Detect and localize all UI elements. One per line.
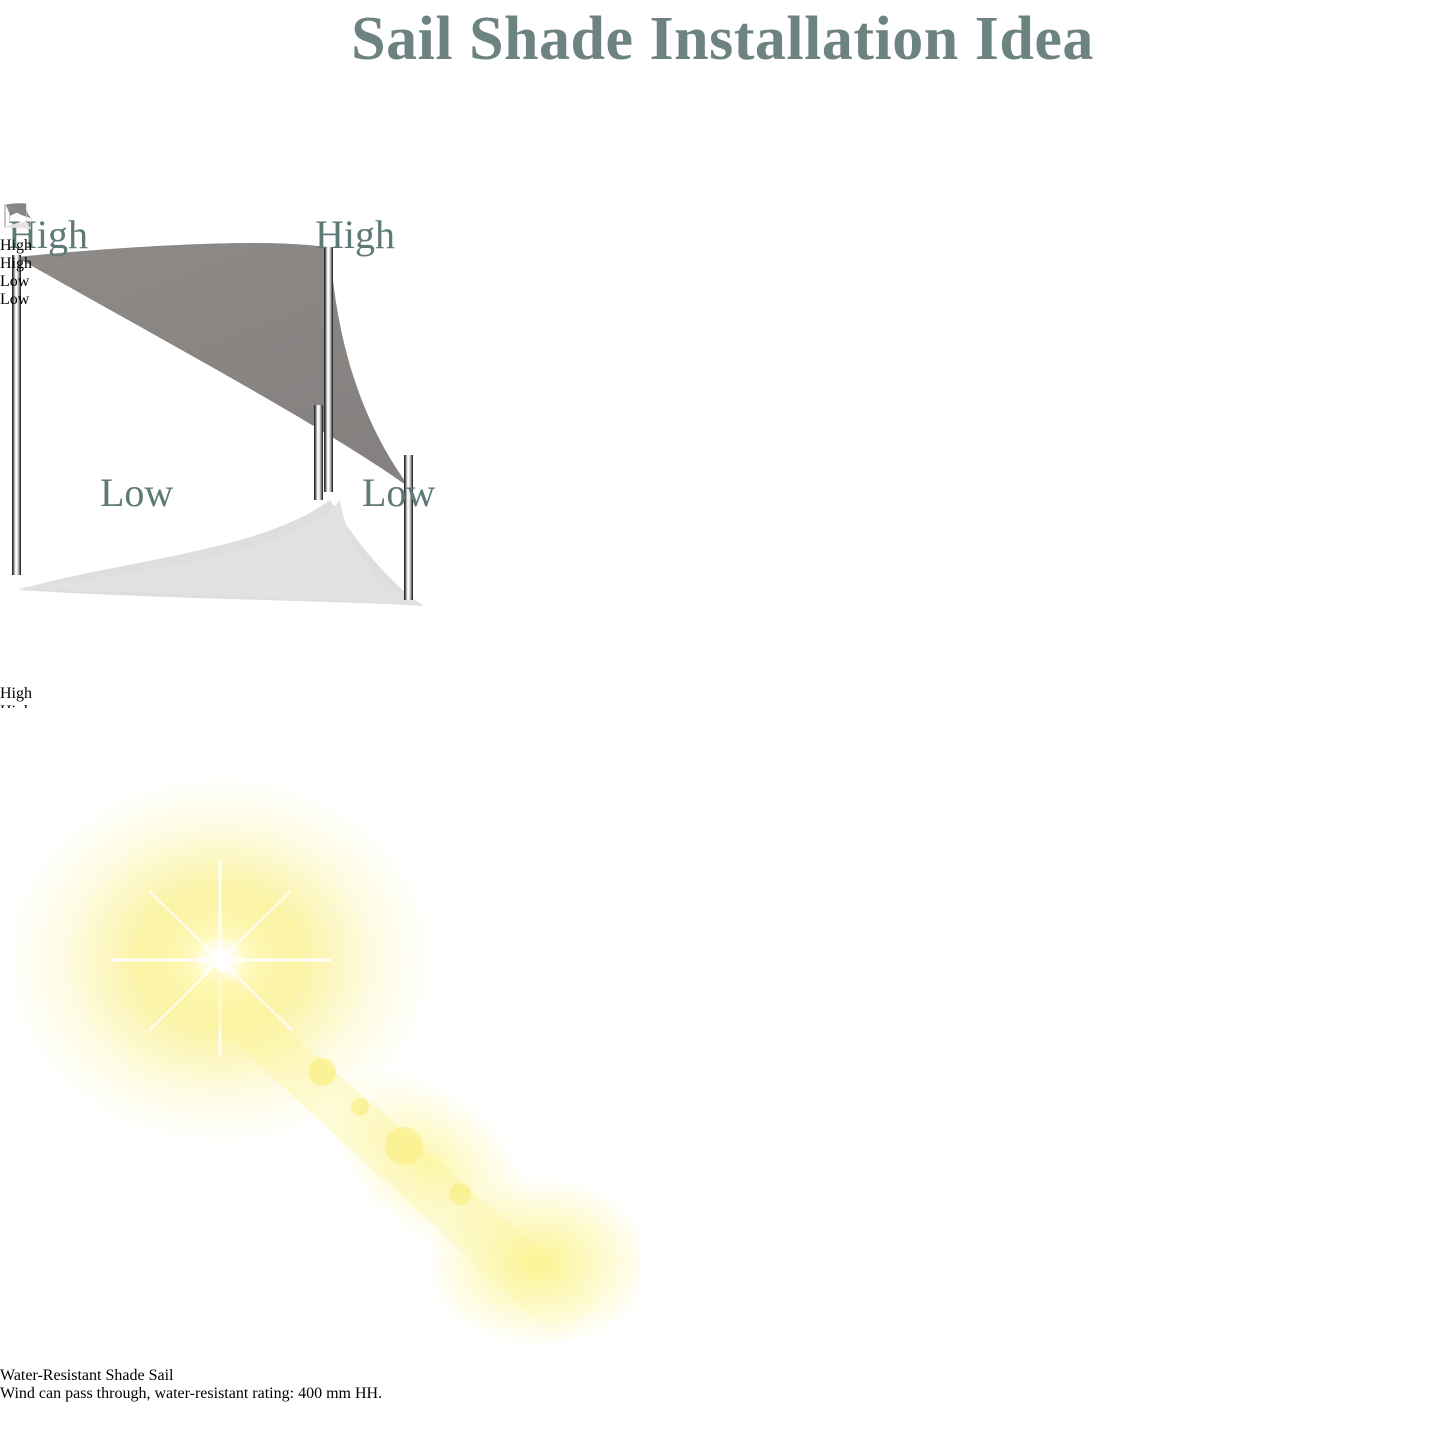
pole-high-left: [5, 204, 6, 227]
diagram-1-graphic: [0, 200, 460, 680]
installation-diagrams-section: Sail Shade Installation Idea: [0, 0, 1445, 708]
shade-sail-fabric: [16, 243, 410, 488]
label-low-left: Low: [100, 473, 173, 513]
diagram-two-high-one-low: High High Low: [0, 200, 460, 680]
pole-low-left: [9, 216, 10, 221]
lower-section-title: Water-Resistant Shade Sail: [0, 1367, 1445, 1385]
shade-sail-illustration: [0, 1403, 1445, 1445]
label-low-left: Low: [0, 273, 32, 291]
infographic-page: Sail Shade Installation Idea: [0, 0, 1445, 1445]
label-high-left: High: [0, 237, 32, 255]
ground-shadow-2: [5, 222, 31, 229]
pole-low-right: [30, 218, 31, 230]
pole-low-mid: [314, 405, 323, 500]
label-low-right: Low: [362, 473, 435, 513]
label-high-right: High: [0, 255, 32, 273]
label-high-left: High: [0, 685, 460, 703]
label-low-right: Low: [0, 291, 32, 309]
diagram-alternating-hypar: High High Low Low: [0, 200, 32, 680]
pole-high-right: [324, 247, 333, 492]
label-high-right: High: [315, 215, 395, 255]
lower-section-subtitle: Wind can pass through, water-resistant r…: [0, 1385, 1445, 1403]
sun-flare-icon: [0, 742, 1445, 1367]
label-high-right: High: [0, 703, 460, 708]
pole-high-right: [26, 203, 27, 221]
diagram-3-graphic: [0, 200, 32, 232]
page-title: Sail Shade Installation Idea: [0, 4, 1445, 75]
